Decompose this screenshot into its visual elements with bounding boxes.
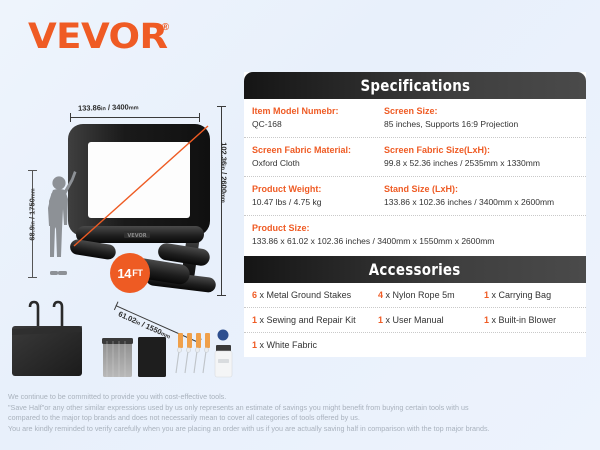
dimension-cap-bottom — [28, 277, 37, 278]
brand-name: VEVOR — [28, 20, 168, 55]
accessory-photos — [10, 295, 240, 387]
accessories-header: Accessories — [244, 256, 586, 283]
accessory-sep: x — [386, 315, 391, 325]
dimension-width-label: 133.86in / 3400mm — [78, 102, 139, 113]
spec-value: 10.47 lbs / 4.75 kg — [252, 196, 378, 209]
disclaimer-line: compared to the major top brands and doe… — [8, 413, 594, 424]
spec-label: Screen Fabric Size(LxH): — [384, 144, 580, 157]
spec-label: Screen Fabric Material: — [252, 144, 378, 157]
diagonal-size-badge: 14FT — [110, 253, 150, 293]
specifications-panel: Specifications Item Model Numebr: QC-168… — [244, 72, 586, 357]
accessory-sep: x — [492, 290, 497, 300]
accessory-name: User Manual — [393, 315, 444, 325]
spec-value: QC-168 — [252, 118, 378, 131]
accessory-qty: 1 — [484, 290, 489, 300]
dimension-cap-right — [199, 113, 200, 122]
accessory-item: 1 x Carrying Bag — [484, 288, 586, 302]
accessory-row: 1 x Sewing and Repair Kit 1 x User Manua… — [244, 308, 586, 333]
accessory-name: Metal Ground Stakes — [267, 290, 352, 300]
disclaimer-line: We continue to be committed to provide y… — [8, 392, 594, 403]
blower-photo — [215, 330, 232, 378]
accessory-qty: 1 — [252, 315, 257, 325]
dimension-cap-top — [28, 170, 37, 171]
spec-label: Stand Size (LxH): — [384, 183, 580, 196]
accessory-qty: 6 — [252, 290, 257, 300]
spec-cell: Item Model Numebr: QC-168 — [252, 105, 384, 131]
person-svg — [42, 168, 82, 280]
spec-row: Screen Fabric Material: Oxford Cloth Scr… — [244, 138, 586, 177]
specifications-body: Item Model Numebr: QC-168 Screen Size: 8… — [244, 99, 586, 256]
accessory-name: Sewing and Repair Kit — [267, 315, 356, 325]
accessory-row: 1 x White Fabric — [244, 333, 586, 357]
accessory-name: Nylon Rope 5m — [393, 290, 455, 300]
spec-label: Product Size: — [252, 222, 580, 235]
spec-cell: Stand Size (LxH): 133.86 x 102.36 inches… — [384, 183, 586, 209]
accessory-qty: 1 — [484, 315, 489, 325]
accessories-title: Accessories — [369, 260, 461, 279]
disclaimer-line: You are kindly reminded to verify carefu… — [8, 424, 594, 435]
spec-cell: Product Weight: 10.47 lbs / 4.75 kg — [252, 183, 384, 209]
spec-label: Product Weight: — [252, 183, 378, 196]
dimension-person-height: 68.9in / 1750mm — [24, 170, 40, 278]
accessory-item: 6 x Metal Ground Stakes — [252, 288, 378, 302]
accessories-body: 6 x Metal Ground Stakes 4 x Nylon Rope 5… — [244, 283, 586, 357]
screen-frame — [68, 124, 210, 236]
dimension-height-label: 102.36in / 2600mm — [220, 133, 229, 213]
accessory-photos-svg — [10, 295, 240, 387]
carrying-bag-photo — [12, 302, 82, 376]
accessory-name: Carrying Bag — [499, 290, 552, 300]
accessory-name: Built-in Blower — [499, 315, 557, 325]
ground-stakes-photo — [176, 333, 210, 373]
accessory-qty: 1 — [252, 340, 257, 350]
fabric-pouch-photo — [138, 337, 166, 377]
accessory-item: 1 x User Manual — [378, 313, 484, 327]
dimension-height: 102.36in / 2600mm — [212, 106, 230, 296]
badge-unit: FT — [132, 268, 142, 278]
accessory-item: 1 x White Fabric — [252, 338, 378, 352]
accessory-row: 6 x Metal Ground Stakes 4 x Nylon Rope 5… — [244, 283, 586, 308]
dimension-width: 133.86in / 3400mm — [70, 104, 200, 122]
accessory-sep: x — [260, 340, 265, 350]
accessory-name: White Fabric — [267, 340, 318, 350]
spec-value: 99.8 x 52.36 inches / 2535mm x 1330mm — [384, 157, 580, 170]
specifications-header: Specifications — [244, 72, 586, 99]
dimension-person-label: 68.9in / 1750mm — [28, 180, 37, 250]
accessory-sep: x — [492, 315, 497, 325]
vevor-logo: VEVOR ® — [28, 20, 169, 55]
accessory-item: 1 x Built-in Blower — [484, 313, 586, 327]
mesh-pouch-photo — [102, 338, 133, 377]
person-silhouette — [42, 168, 82, 280]
accessory-item: 4 x Nylon Rope 5m — [378, 288, 484, 302]
dimension-cap-top — [217, 106, 226, 107]
accessory-sep: x — [386, 290, 391, 300]
spec-cell: Product Size: 133.86 x 61.02 x 102.36 in… — [252, 222, 586, 248]
spec-row: Product Weight: 10.47 lbs / 4.75 kg Stan… — [244, 177, 586, 216]
spec-cell: Screen Fabric Size(LxH): 99.8 x 52.36 in… — [384, 144, 586, 170]
spec-label: Item Model Numebr: — [252, 105, 378, 118]
disclaimer: We continue to be committed to provide y… — [8, 392, 594, 434]
dimension-cap-left — [70, 113, 71, 122]
accessory-qty: 1 — [378, 315, 383, 325]
svg-text:VEVOR: VEVOR — [127, 233, 146, 239]
frame-logo: VEVOR — [124, 231, 150, 239]
spec-cell: Screen Fabric Material: Oxford Cloth — [252, 144, 384, 170]
specifications-title: Specifications — [360, 76, 470, 95]
spec-row: Product Size: 133.86 x 61.02 x 102.36 in… — [244, 216, 586, 254]
spec-value: 133.86 x 102.36 inches / 3400mm x 2600mm — [384, 196, 580, 209]
dimension-line — [70, 117, 200, 118]
badge-number: 14 — [117, 266, 131, 281]
accessory-sep: x — [260, 290, 265, 300]
spec-row: Item Model Numebr: QC-168 Screen Size: 8… — [244, 99, 586, 138]
accessory-sep: x — [260, 315, 265, 325]
accessory-qty: 4 — [378, 290, 383, 300]
accessory-item: 1 x Sewing and Repair Kit — [252, 313, 378, 327]
spec-cell: Screen Size: 85 inches, Supports 16:9 Pr… — [384, 105, 586, 131]
spec-value: 85 inches, Supports 16:9 Projection — [384, 118, 580, 131]
spec-value: 133.86 x 61.02 x 102.36 inches / 3400mm … — [252, 235, 580, 248]
spec-label: Screen Size: — [384, 105, 580, 118]
disclaimer-line: "Save Half"or any other similar expressi… — [8, 403, 594, 414]
spec-value: Oxford Cloth — [252, 157, 378, 170]
